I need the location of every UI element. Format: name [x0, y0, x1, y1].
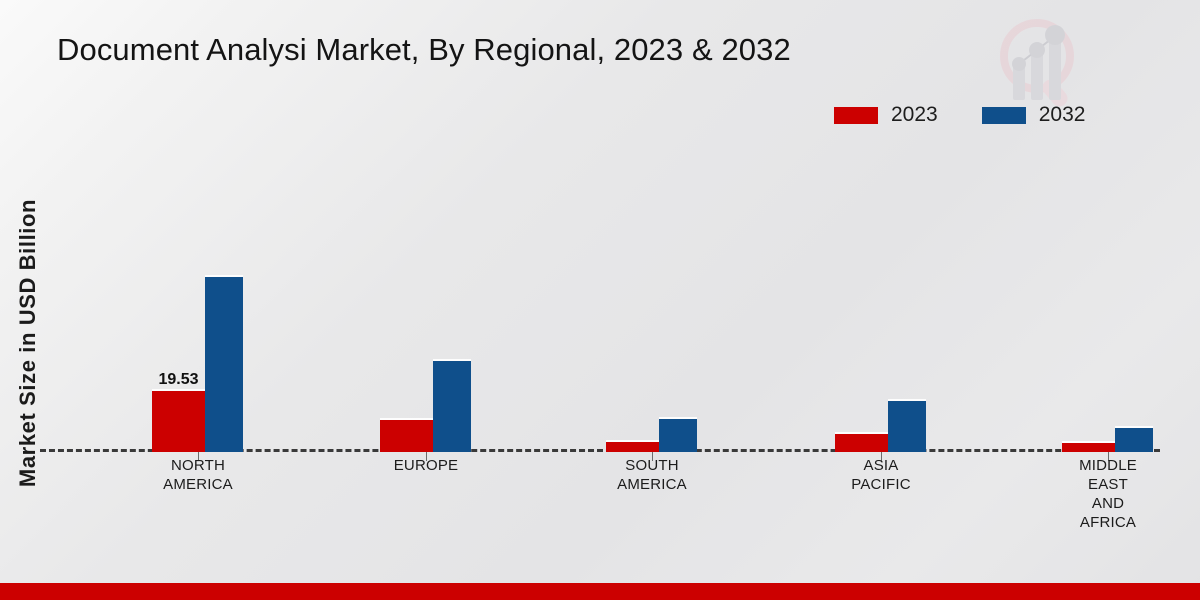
- category-label-line: SOUTH: [562, 456, 742, 475]
- chart-legend: 2023 2032: [834, 103, 1085, 127]
- chart-canvas: Document Analysi Market, By Regional, 20…: [0, 0, 1200, 600]
- bar-2032[interactable]: [888, 401, 926, 452]
- chart-title: Document Analysi Market, By Regional, 20…: [57, 32, 791, 68]
- category-label: ASIAPACIFIC: [791, 456, 971, 494]
- y-axis-title: Market Size in USD Billion: [15, 163, 41, 523]
- bar-2023[interactable]: [1062, 443, 1115, 452]
- bar-pair: 19.53: [152, 150, 243, 452]
- category-label-line: MIDDLE: [1018, 456, 1198, 475]
- bar-2032[interactable]: [1115, 428, 1153, 452]
- legend-label-2032: 2032: [1039, 103, 1086, 127]
- category-label-line: AND: [1018, 494, 1198, 513]
- legend-item-2023[interactable]: 2023: [834, 103, 938, 127]
- category-label-line: AFRICA: [1018, 513, 1198, 532]
- bar-pair: [380, 150, 471, 452]
- bar-group: EUROPE: [380, 150, 560, 452]
- category-label-line: EUROPE: [336, 456, 516, 475]
- category-label-line: EAST: [1018, 475, 1198, 494]
- bar-group: ASIAPACIFIC: [835, 150, 1015, 452]
- category-label: MIDDLEEASTANDAFRICA: [1018, 456, 1198, 532]
- bar-2032[interactable]: [659, 419, 697, 452]
- bar-2032[interactable]: [433, 361, 471, 452]
- legend-item-2032[interactable]: 2032: [982, 103, 1086, 127]
- bar-2023[interactable]: [606, 442, 659, 452]
- legend-swatch-2032: [982, 107, 1026, 124]
- bar-2023[interactable]: [835, 434, 888, 452]
- bar-group: 19.53NORTHAMERICA: [152, 150, 332, 452]
- category-label-line: ASIA: [791, 456, 971, 475]
- bar-value-label: 19.53: [158, 371, 198, 389]
- bar-pair: [1062, 150, 1153, 452]
- bar-group: MIDDLEEASTANDAFRICA: [1062, 150, 1200, 452]
- plot-area: 19.53NORTHAMERICAEUROPESOUTHAMERICAASIAP…: [40, 150, 1160, 452]
- category-label-line: PACIFIC: [791, 475, 971, 494]
- category-label: EUROPE: [336, 456, 516, 475]
- magnifier-bar-chart-logo-icon: [985, 8, 1095, 113]
- bar-2023[interactable]: [380, 420, 433, 452]
- category-label: NORTHAMERICA: [108, 456, 288, 494]
- legend-swatch-2023: [834, 107, 878, 124]
- footer-band: [0, 583, 1200, 600]
- bar-pair: [835, 150, 926, 452]
- bar-2032[interactable]: [205, 277, 243, 452]
- category-label: SOUTHAMERICA: [562, 456, 742, 494]
- bar-2023[interactable]: 19.53: [152, 391, 205, 452]
- category-label-line: AMERICA: [108, 475, 288, 494]
- category-label-line: NORTH: [108, 456, 288, 475]
- legend-label-2023: 2023: [891, 103, 938, 127]
- bar-group: SOUTHAMERICA: [606, 150, 786, 452]
- category-label-line: AMERICA: [562, 475, 742, 494]
- bar-pair: [606, 150, 697, 452]
